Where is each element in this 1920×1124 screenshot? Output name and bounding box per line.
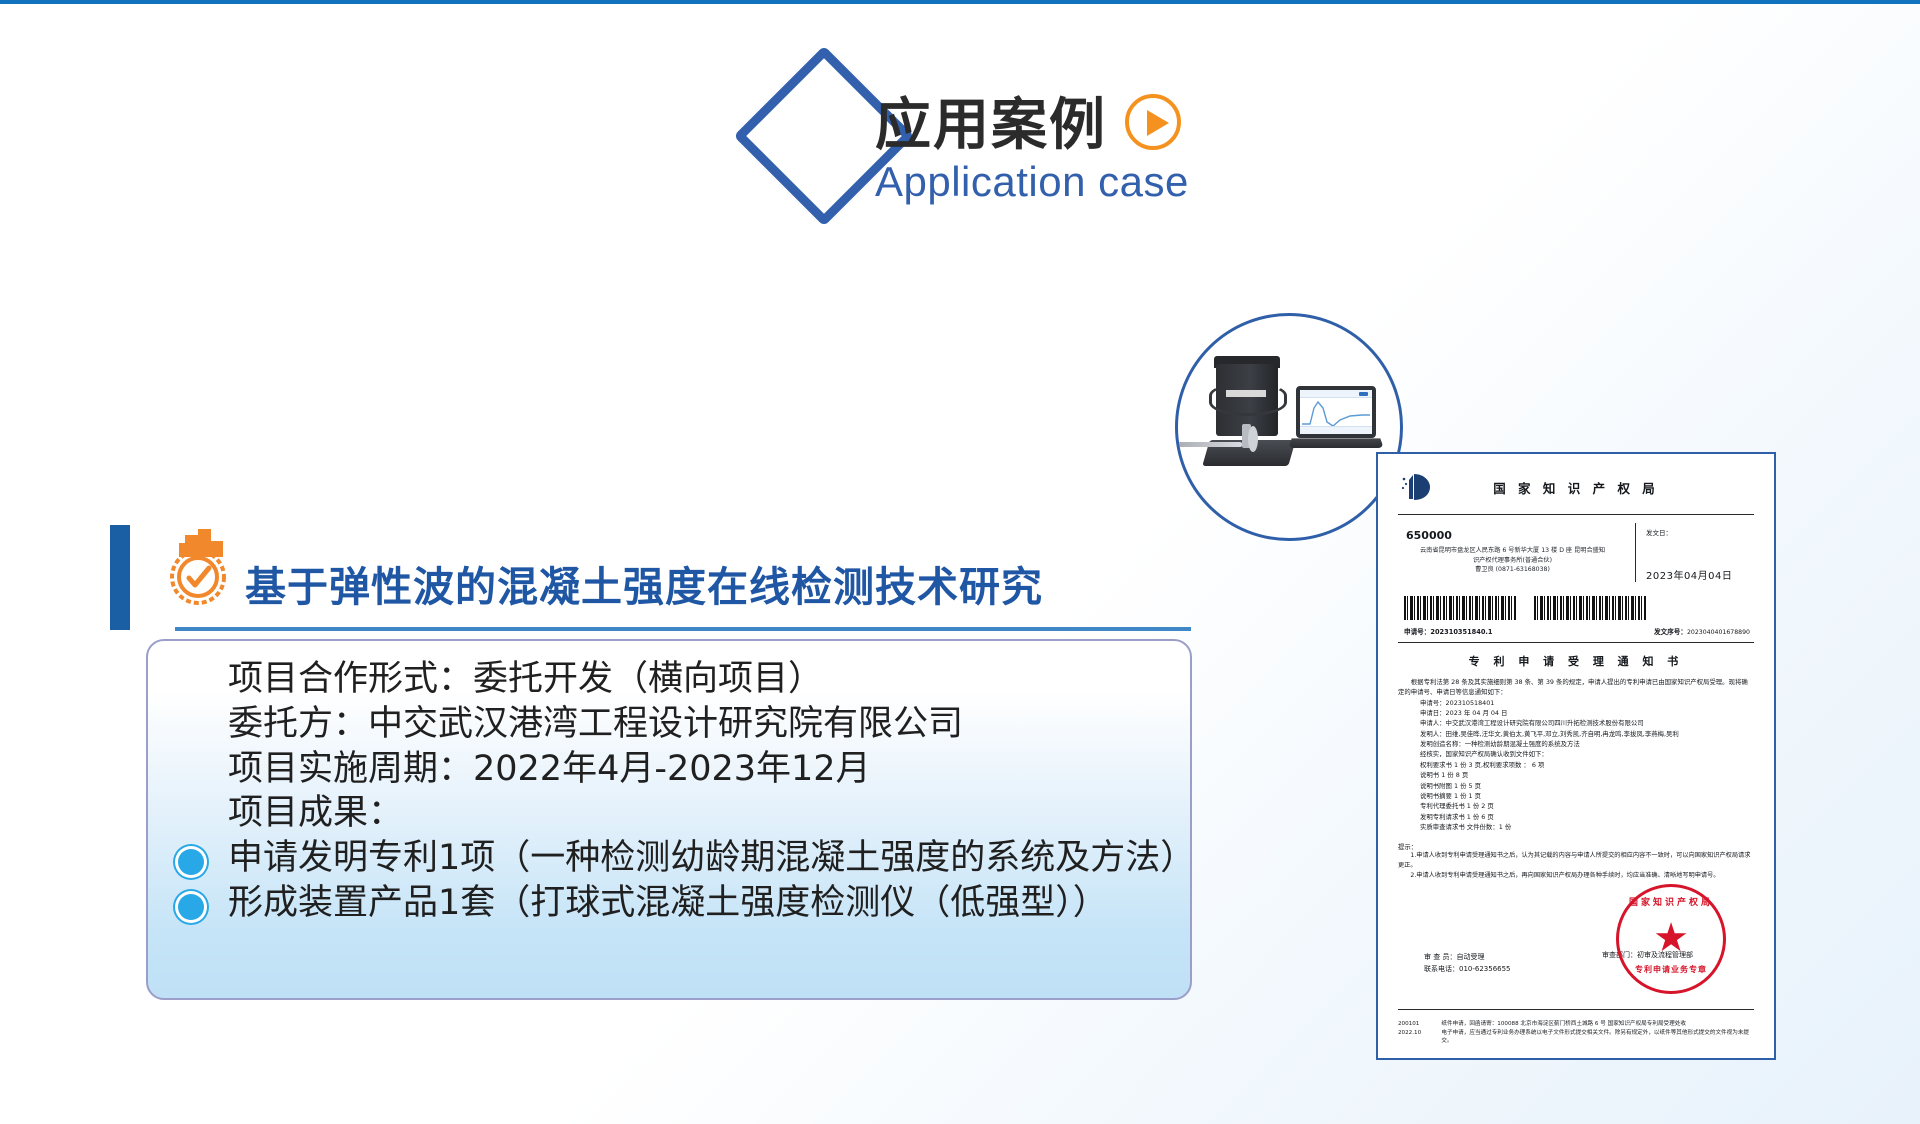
laptop-button-chip — [1359, 392, 1368, 396]
top-accent-rule — [0, 0, 1920, 4]
document-serial-value: 2023040401678890 — [1687, 629, 1750, 636]
document-phone: 联系电话：010-62356655 — [1424, 963, 1511, 976]
cnipa-logo-icon — [1400, 472, 1434, 502]
section-title-divider — [175, 627, 1191, 631]
document-serial-label: 发文序号： — [1654, 628, 1687, 636]
document-org-name: 国 家 知 识 产 权 局 — [1398, 470, 1754, 497]
document-divider-2 — [1398, 642, 1754, 643]
project-info-card: 项目合作形式：委托开发（横向项目） 委托方：中交武汉港湾工程设计研究院有限公司 … — [146, 639, 1192, 1000]
result-device-text: 形成装置产品1套（打球式混凝土强度检测仪（低强型）） — [228, 883, 1108, 923]
red-official-seal-icon: 国家知识产权局 ★ 专利申请业务专章 — [1616, 884, 1726, 994]
seal-top-text: 国家知识产权局 — [1619, 895, 1723, 908]
document-item: 说明书附图 1 份 5 页 — [1398, 781, 1754, 791]
document-item: 权利要求书 1 份 3 页,权利要求项数 ： 6 项 — [1398, 760, 1754, 770]
bullet-dot-icon — [178, 894, 204, 920]
document-address-line-3: 曹卫良 (0871-63168038) — [1398, 565, 1627, 575]
instrument-strap — [1209, 382, 1287, 416]
document-issue-date-label: 发文日： — [1646, 527, 1754, 537]
barcode-serial — [1534, 596, 1646, 620]
list-item: 申请发明专利1项（一种检测幼龄期混凝土强度的系统及方法） — [174, 836, 1164, 881]
document-footer-line-1: 纸件申请，回函请寄：100088 北京市海淀区蓟门桥西土城路 6 号 国家知识产… — [1441, 1020, 1754, 1029]
seal-bottom-text: 专利申请业务专章 — [1619, 964, 1723, 975]
info-line-results-label: 项目成果： — [174, 791, 1164, 836]
document-note: 1.申请人收到专利申请受理通知书之后，认为其记载的内容与申请人所提交的相应内容不… — [1398, 851, 1754, 871]
document-items-list: 申请号：202310518401 申请日：2023 年 04 月 04 日 申请… — [1398, 698, 1754, 833]
page-title-en: Application case — [875, 158, 1189, 206]
header-text-group: 应用案例 Application case — [875, 98, 1189, 206]
document-app-no-value: 202310351840.1 — [1430, 628, 1492, 636]
document-item: 发明专利请求书 1 份 6 页 — [1398, 812, 1754, 822]
document-issue-date-value: 2023年04月04日 — [1646, 567, 1754, 582]
document-item: 发明创造名称：一种检测幼龄期混凝土强度的系统及方法 — [1398, 739, 1754, 749]
play-triangle-icon[interactable] — [1125, 94, 1181, 150]
document-title: 专 利 申 请 受 理 通 知 书 — [1398, 653, 1754, 669]
document-paragraph: 根据专利法第 28 条及其实施细则第 38 条、第 39 条的规定，申请人提出的… — [1398, 677, 1754, 698]
section-title: 基于弹性波的混凝土强度在线检测技术研究 — [245, 553, 1043, 613]
document-item: 经核实，国家知识产权局确认收到文件如下： — [1398, 749, 1754, 759]
laptop-statusbar — [1300, 426, 1372, 434]
document-header: 国 家 知 识 产 权 局 — [1398, 470, 1754, 510]
document-item: 说明书摘要 1 份 1 页 — [1398, 791, 1754, 801]
document-footer-line-2: 电子申请，应当通过专利业务办理系统以电子文件形式提交相关文件。除另有规定外，以纸… — [1441, 1029, 1754, 1046]
instrument-rod — [1176, 442, 1242, 447]
laptop-base — [1288, 438, 1384, 448]
result-patent-text: 申请发明专利1项（一种检测幼龄期混凝土强度的系统及方法） — [228, 838, 1195, 878]
slide-root: 应用案例 Application case — [0, 0, 1920, 1124]
info-line-client: 委托方：中交武汉港湾工程设计研究院有限公司 — [174, 702, 1164, 747]
list-item: 形成装置产品1套（打球式混凝土强度检测仪（低强型）） — [174, 881, 1164, 926]
info-line-cooperation: 项目合作形式：委托开发（横向项目） — [174, 657, 1164, 702]
bullet-dot-icon — [178, 849, 204, 875]
document-zip-code: 650000 — [1406, 529, 1627, 542]
document-item: 申请人：中交武汉港湾工程设计研究院有限公司四川升拓检测技术股份有限公司 — [1398, 718, 1754, 728]
document-item: 申请日：2023 年 04 月 04 日 — [1398, 708, 1754, 718]
document-item: 专利代理委托书 1 份 2 页 — [1398, 801, 1754, 811]
instrument-disc — [1248, 426, 1258, 452]
document-divider-1 — [1398, 514, 1754, 515]
laptop-waveform-screen — [1296, 386, 1376, 438]
document-notes-header: 提示： — [1398, 842, 1754, 851]
verified-badge-check-icon — [163, 527, 233, 605]
patent-notice-document: 国 家 知 识 产 权 局 650000 云南省昆明市盘龙区人民东路 6 号新华… — [1376, 452, 1776, 1060]
device-photo-circle — [1175, 313, 1403, 541]
document-item: 申请号：202310518401 — [1398, 698, 1754, 708]
document-number-row: 申请号：202310351840.1 发文序号：2023040401678890 — [1398, 624, 1754, 640]
document-note: 2.申请人收到专利申请受理通知书之后，再向国家知识产权局办理各种手续时，均应当准… — [1398, 871, 1754, 881]
document-footer-divider — [1398, 1009, 1754, 1010]
document-item: 发明人：田维,吴佳晔,汪华文,黄伯太,黄飞平,邓立,刘秀凯,齐自明,冉龙鸣,李拔… — [1398, 729, 1754, 739]
document-examiner: 审 查 员：自动受理 — [1424, 951, 1511, 964]
document-footer-code-1: 200101 — [1398, 1020, 1431, 1029]
left-accent-bar — [110, 525, 130, 630]
document-address-line-2: 识产权代理事务所(普通合伙) — [1398, 556, 1627, 566]
barcode-application — [1404, 596, 1516, 620]
document-address-line-1: 云南省昆明市盘龙区人民东路 6 号新华大厦 13 楼 D 座 昆明合盛知 — [1398, 546, 1627, 556]
document-item: 说明书 1 份 8 页 — [1398, 770, 1754, 780]
document-barcodes — [1404, 596, 1754, 620]
document-footer-code-2: 2022.10 — [1398, 1029, 1431, 1038]
seal-star-icon: ★ — [1653, 918, 1689, 958]
page-title-cn: 应用案例 — [875, 98, 1107, 154]
page-header: 应用案例 Application case — [740, 50, 1360, 240]
document-app-no-label: 申请号： — [1404, 628, 1430, 636]
info-line-period: 项目实施周期：2022年4月-2023年12月 — [174, 747, 1164, 792]
document-footer: 200101 2022.10 纸件申请，回函请寄：100088 北京市海淀区蓟门… — [1398, 1020, 1754, 1046]
document-item: 实质审查请求书 文件份数：1 份 — [1398, 822, 1754, 832]
document-signature-block: 审 查 员：自动受理 联系电话：010-62356655 — [1424, 951, 1511, 976]
